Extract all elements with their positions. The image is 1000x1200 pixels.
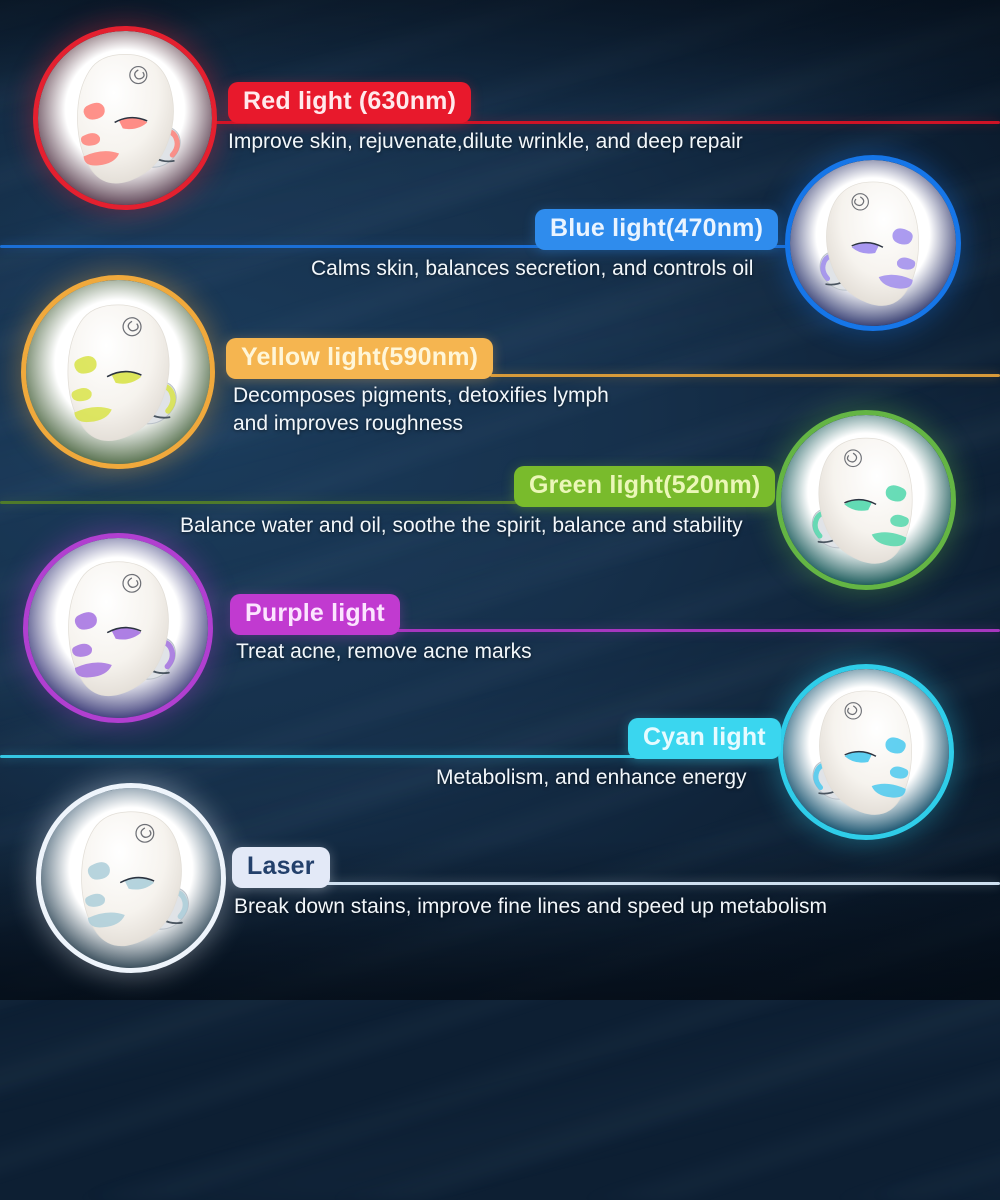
light-description-red: Improve skin, rejuvenate,dilute wrinkle,… [228, 128, 743, 156]
light-badge-blue[interactable]: Blue light(470nm) [535, 209, 778, 250]
light-badge-yellow[interactable]: Yellow light(590nm) [226, 338, 493, 379]
light-badge-purple[interactable]: Purple light [230, 594, 400, 635]
light-description-laser: Break down stains, improve fine lines an… [234, 893, 827, 921]
light-description-yellow: Decomposes pigments, detoxifies lymph an… [233, 382, 609, 438]
light-description-purple: Treat acne, remove acne marks [236, 638, 532, 666]
light-badge-cyan[interactable]: Cyan light [628, 718, 781, 759]
light-description-blue: Calms skin, balances secretion, and cont… [311, 255, 753, 283]
light-badge-green[interactable]: Green light(520nm) [514, 466, 775, 507]
light-description-green: Balance water and oil, soothe the spirit… [180, 512, 743, 540]
light-mode-labels: Red light (630nm)Improve skin, rejuvenat… [0, 0, 1000, 1000]
light-description-cyan: Metabolism, and enhance energy [436, 764, 747, 792]
light-badge-laser[interactable]: Laser [232, 847, 330, 888]
light-badge-red[interactable]: Red light (630nm) [228, 82, 471, 123]
